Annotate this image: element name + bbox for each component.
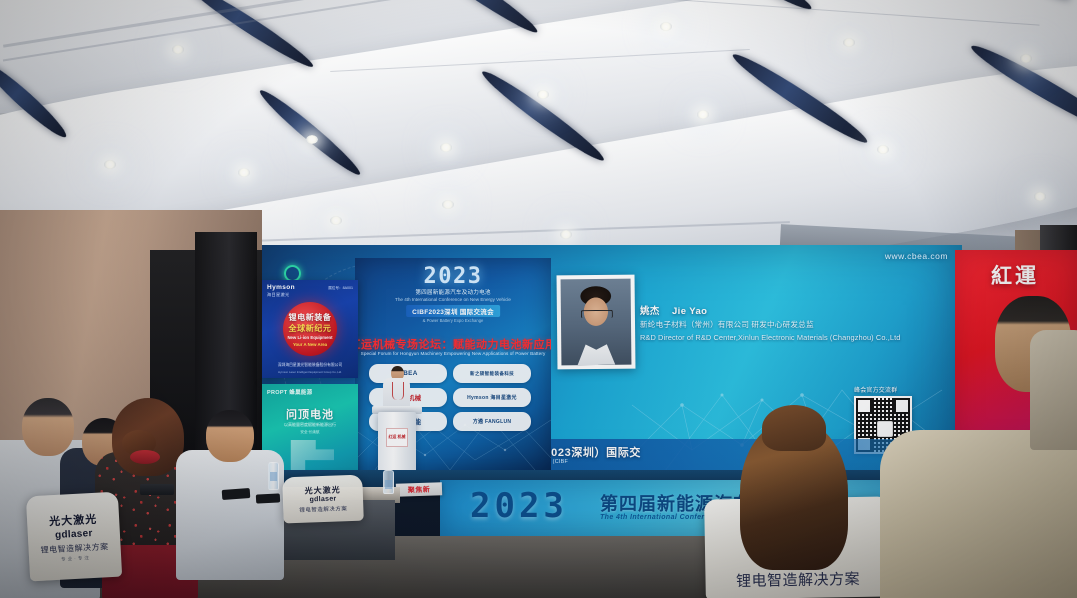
smartphone xyxy=(256,493,280,503)
slide-subtitle-cn: 第四届新能源汽车及动力电池 xyxy=(415,288,490,296)
slide-year: 2023 xyxy=(424,264,483,289)
slide-subtitle-en: The 4th International Conference on New … xyxy=(395,297,511,302)
ceiling-spotlight xyxy=(843,38,855,47)
ceiling-spotlight xyxy=(660,22,672,31)
ceiling-spotlight xyxy=(330,216,342,225)
sponsor-logo: Hymson 海目星激光 xyxy=(453,388,531,407)
standing-banner-hymson: Hymson 海目星激光 展位号：8A001 锂电新装备 全球新纪元 New L… xyxy=(262,280,358,378)
forum-title-cn: 红运机械专场论坛：赋能动力电池新应用 xyxy=(355,336,551,352)
ceiling-spotlight xyxy=(1020,54,1032,63)
ceiling-spotlight xyxy=(537,90,549,99)
hymson-footer-en: Hymson Laser Intelligent Equipment Group… xyxy=(278,370,342,374)
speaker-name-en: Jie Yao xyxy=(672,306,707,317)
hymson-footer-cn: 深圳海目星激光智能装备股份有限公司 xyxy=(278,363,343,368)
ceiling-spotlight xyxy=(440,143,452,152)
podium-logo: 红运 机械 xyxy=(386,428,408,447)
ceiling-spotlight xyxy=(442,200,454,209)
chair-cover: 光大激光 gdlaser 锂电智造解决方案 专 业 · 专 注 xyxy=(26,492,122,582)
qr-code-label: 峰会官方交流群 xyxy=(854,385,910,394)
ceiling-spotlight xyxy=(172,45,184,54)
water-bottle xyxy=(268,462,279,490)
chair-tagline: 锂电智造解决方案 xyxy=(736,568,860,591)
red-banner-text: 紅運 xyxy=(991,260,1039,290)
propt-brand: PROPT 蜂巢能源 xyxy=(267,388,312,396)
sponsor-logo: 方遴 FANGLUN xyxy=(453,412,531,431)
ceiling-spotlight xyxy=(306,135,318,144)
stage-red-sign: 聚焦新 xyxy=(396,482,442,497)
stage-banner-year: 2023 xyxy=(470,486,568,526)
chair-tagline: 锂电智造解决方案 xyxy=(40,541,108,556)
speaker-affiliation-cn: 新纶电子材料（常州）有限公司 研发中心研发总监 xyxy=(640,319,814,330)
slide-badge: CIBF2023深圳 国际交流会 xyxy=(406,305,500,317)
chair-brand-en: gdlaser xyxy=(55,528,93,541)
podium: 红运 机械 xyxy=(378,412,416,474)
ceiling-spotlight xyxy=(877,145,889,154)
water-bottle xyxy=(383,470,394,494)
hymson-line1: 锂电新装备 xyxy=(289,312,332,323)
chair-tagline-sub: 专 业 · 专 注 xyxy=(61,555,89,562)
conference-hall-photo: www.cbea.com 姚杰 Jie Yao 新纶电子材料（常州）有限公司 研… xyxy=(0,0,1077,598)
hymson-line2-en: Your A New Area xyxy=(293,342,327,347)
smartphone xyxy=(222,488,251,500)
speaker-portrait-photo xyxy=(557,275,636,370)
ceiling-spotlight xyxy=(697,110,709,119)
forum-title-en: Special Forum for Hongyun Machinery Empo… xyxy=(361,351,546,356)
propt-sub2: 安全·长续航 xyxy=(300,430,319,435)
ceiling-spotlight xyxy=(560,230,572,239)
ceiling-spotlight xyxy=(238,168,250,177)
chair-brand-cn: 光大激光 xyxy=(49,510,98,528)
hymson-line1-en: New Li-ion Equipment xyxy=(287,335,332,340)
propt-sub: 以高能量密度赋能新能源出行 xyxy=(284,422,336,428)
speaker-affiliation-en: R&D Director of R&D Center,Xinlun Electr… xyxy=(640,333,900,342)
lanyard xyxy=(392,382,404,400)
sponsor-logo: 新之硕智能装备科技 xyxy=(453,364,531,383)
website-url: www.cbea.com xyxy=(885,251,948,261)
chair-cover: 光大激光 gdlaser 锂电智造解决方案 xyxy=(282,475,364,524)
hymson-brand-cn: 海目星激光 xyxy=(267,292,289,298)
hymson-line2: 全球新纪元 xyxy=(289,323,332,334)
chair-tagline: 锂电智造解决方案 xyxy=(299,504,347,514)
chair-brand-en: gdlaser xyxy=(309,496,336,504)
slide-badge-en: & Power Battery Expo Exchange xyxy=(423,318,484,323)
speaker-name: 姚杰 Jie Yao xyxy=(640,303,707,317)
propt-title: 问顶电池 xyxy=(286,406,334,422)
ceiling-spotlight xyxy=(104,160,116,169)
avatar xyxy=(561,279,632,366)
speaker-name-cn: 姚杰 xyxy=(640,306,660,317)
laptop xyxy=(140,484,174,495)
hymson-brand-en: Hymson xyxy=(267,284,295,291)
hymson-booth: 展位号：8A001 xyxy=(328,286,353,291)
ceiling-spotlight xyxy=(1034,192,1046,201)
stage-red-sign-text: 聚焦新 xyxy=(408,484,431,495)
